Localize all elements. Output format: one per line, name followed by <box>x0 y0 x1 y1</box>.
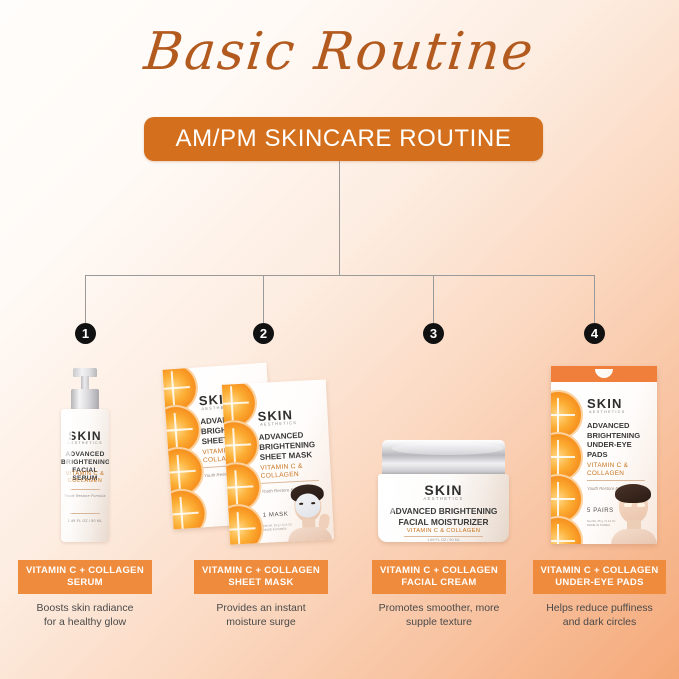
serum-collar <box>71 389 99 410</box>
sheet-mask-brand-sub: AESTHETICS <box>260 420 297 427</box>
step-label-1: VITAMIN C + COLLAGEN SERUM <box>18 560 152 594</box>
under-eye-name: ADVANCED BRIGHTENING UNDER-EYE PADS <box>587 421 640 459</box>
step-label-2-line2: SHEET MASK <box>228 577 293 588</box>
moisturizer-actives: VITAMIN C & COLLAGEN <box>378 528 509 534</box>
step-description-3: Promotes smoother, more supple texture <box>350 601 528 629</box>
serum-divider-2 <box>70 513 100 514</box>
under-eye-count: 5 PAIRS <box>587 508 614 514</box>
orange-slices-decor-box <box>551 390 589 542</box>
sheet-mask-count: 1 MASK <box>263 512 289 519</box>
moisturizer-brand-sub: AESTHETICS <box>378 496 509 501</box>
product-moisturizer-jar: SKIN AESTHETICS ADVANCED BRIGHTENING FAC… <box>378 440 509 545</box>
step-description-4: Helps reduce puffiness and dark circles <box>520 601 679 629</box>
under-eye-brand-sub: AESTHETICS <box>589 409 625 414</box>
step-label-4: VITAMIN C + COLLAGEN UNDER-EYE PADS <box>533 560 667 594</box>
serum-volume: 1.69 FL OZ / 50 ML <box>61 519 109 523</box>
step-label-4-line2: UNDER-EYE PADS <box>555 577 643 588</box>
model-face-under-eye <box>611 484 657 544</box>
serum-actives: VITAMIN C & COLLAGEN <box>61 471 109 485</box>
under-eye-actives: VITAMIN C & COLLAGEN <box>587 462 628 478</box>
step-number-4: 4 <box>584 323 605 344</box>
step-label-2-line1: VITAMIN C + COLLAGEN <box>202 565 320 576</box>
routine-banner-label: AM/PM SKINCARE ROUTINE <box>176 125 512 153</box>
step-label-1-line2: SERUM <box>67 577 103 588</box>
page-title: Basic Routine <box>0 22 679 82</box>
serum-formula: Youth Restore Formula <box>61 494 109 498</box>
connector-drop-2 <box>263 275 264 323</box>
step-number-1: 1 <box>75 323 96 344</box>
model-face-with-mask <box>285 483 332 541</box>
step-label-3: VITAMIN C + COLLAGEN FACIAL CREAM <box>372 560 506 594</box>
moisturizer-name: ADVANCED BRIGHTENING FACIAL MOISTURIZER <box>378 506 509 527</box>
jar-body: SKIN AESTHETICS ADVANCED BRIGHTENING FAC… <box>378 474 509 542</box>
connector-drop-1 <box>85 275 86 323</box>
serum-divider <box>70 489 100 490</box>
sheet-mask-actives: VITAMIN C & COLLAGEN <box>260 463 303 481</box>
serum-body: SKIN AESTHETICS ADVANCED BRIGHTENING FAC… <box>61 409 109 542</box>
step-description-2: Provides an instant moisture surge <box>176 601 346 629</box>
jar-lid-top <box>392 442 503 455</box>
routine-banner: AM/PM SKINCARE ROUTINE <box>144 117 543 161</box>
step-caption-1: VITAMIN C + COLLAGEN SERUM Boosts skin r… <box>0 560 170 629</box>
connector-horizontal-bar <box>85 275 595 276</box>
connector-drop-4 <box>594 275 595 323</box>
product-under-eye-pads-box: SKIN AESTHETICS ADVANCED BRIGHTENING UND… <box>551 366 657 544</box>
sheet-mask-name: ADVANCED BRIGHTENING SHEET MASK <box>258 430 315 463</box>
connector-vertical-main <box>339 161 340 275</box>
infographic-canvas: Basic Routine AM/PM SKINCARE ROUTINE 1 2… <box>0 0 679 679</box>
step-number-3: 3 <box>423 323 444 344</box>
under-eye-divider <box>587 480 645 481</box>
step-caption-2: VITAMIN C + COLLAGEN SHEET MASK Provides… <box>176 560 346 629</box>
step-label-4-line1: VITAMIN C + COLLAGEN <box>541 565 659 576</box>
serum-brand-sub: AESTHETICS <box>61 441 109 445</box>
serum-neck <box>81 376 89 390</box>
step-label-3-line2: FACIAL CREAM <box>401 577 476 588</box>
sheet-mask-packet-front: SKIN AESTHETICS ADVANCED BRIGHTENING SHE… <box>222 379 334 544</box>
step-label-3-line1: VITAMIN C + COLLAGEN <box>380 565 498 576</box>
step-description-1: Boosts skin radiance for a healthy glow <box>0 601 170 629</box>
step-label-2: VITAMIN C + COLLAGEN SHEET MASK <box>194 560 328 594</box>
step-label-1-line1: VITAMIN C + COLLAGEN <box>26 565 144 576</box>
jar-lid <box>382 440 505 476</box>
connector-drop-3 <box>433 275 434 323</box>
product-serum-bottle: SKIN AESTHETICS ADVANCED BRIGHTENING FAC… <box>56 368 114 544</box>
product-sheet-mask-packets: SKIN AESTHETICS ADVANCED BRIGHTENING SHE… <box>160 360 350 550</box>
moisturizer-divider <box>404 536 483 537</box>
moisturizer-volume: 1.69 FL OZ / 50 ML <box>378 538 509 542</box>
step-caption-3: VITAMIN C + COLLAGEN FACIAL CREAM Promot… <box>350 560 528 629</box>
step-number-2: 2 <box>253 323 274 344</box>
step-caption-4: VITAMIN C + COLLAGEN UNDER-EYE PADS Help… <box>520 560 679 629</box>
